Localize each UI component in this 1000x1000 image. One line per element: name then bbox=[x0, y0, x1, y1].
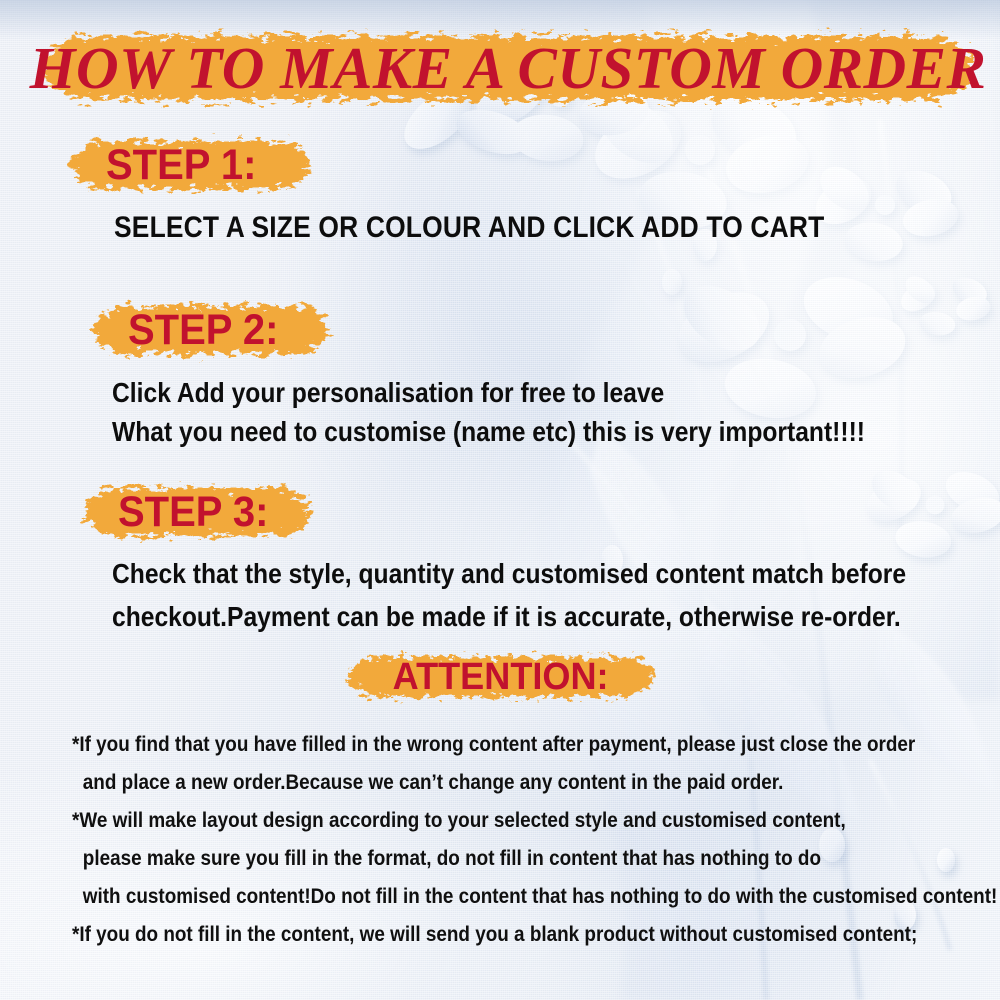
fineprint-line-5: with customised content!Do not fill in t… bbox=[72, 878, 882, 916]
step-2-line-1: Click Add your personalisation for free … bbox=[112, 373, 865, 412]
step-2-line-2: What you need to customise (name etc) th… bbox=[112, 412, 865, 451]
fineprint-line-6: *If you do not fill in the content, we w… bbox=[72, 916, 882, 954]
step-3-line-1: Check that the style, quantity and custo… bbox=[112, 552, 906, 595]
step-3-body: Check that the style, quantity and custo… bbox=[112, 552, 906, 638]
step-2-body: Click Add your personalisation for free … bbox=[112, 373, 865, 451]
step-2-label: STEP 2: bbox=[128, 306, 278, 355]
step-3-label: STEP 3: bbox=[118, 488, 268, 537]
fineprint-line-1: *If you find that you have filled in the… bbox=[72, 726, 882, 764]
fineprint-line-3: *We will make layout design according to… bbox=[72, 802, 882, 840]
custom-order-instructions-poster: HOW TO MAKE A CUSTOM ORDER STEP 1: SELEC… bbox=[0, 0, 1000, 1000]
attention-fineprint: *If you find that you have filled in the… bbox=[72, 726, 972, 954]
attention-label: ATTENTION: bbox=[393, 656, 609, 699]
fineprint-line-4: please make sure you fill in the format,… bbox=[72, 840, 882, 878]
step-1-body: SELECT A SIZE OR COLOUR AND CLICK ADD TO… bbox=[114, 211, 824, 245]
attention-badge: ATTENTION: bbox=[340, 650, 662, 704]
step-1-badge: STEP 1: bbox=[66, 132, 316, 198]
step-1-label: STEP 1: bbox=[106, 141, 256, 190]
step-2-badge: STEP 2: bbox=[88, 297, 334, 363]
fineprint-line-2: and place a new order.Because we can’t c… bbox=[72, 764, 882, 802]
title-banner: HOW TO MAKE A CUSTOM ORDER bbox=[36, 22, 980, 116]
page-title: HOW TO MAKE A CUSTOM ORDER bbox=[30, 34, 987, 103]
step-3-badge: STEP 3: bbox=[78, 479, 316, 545]
step-3-line-2: checkout.Payment can be made if it is ac… bbox=[112, 595, 906, 638]
step-1-line-1: SELECT A SIZE OR COLOUR AND CLICK ADD TO… bbox=[114, 211, 824, 245]
